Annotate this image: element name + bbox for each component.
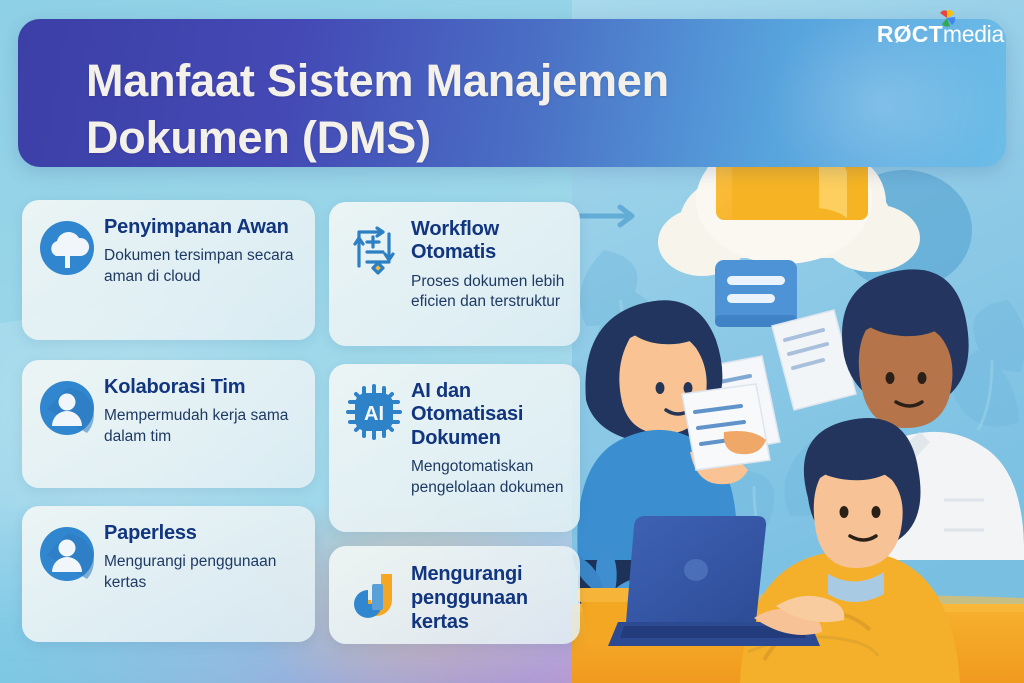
card-ai-otomatisasi-dokumen[interactable]: AI AI dan Otomatisasi Dokumen Mengotomat… [329, 364, 580, 532]
card-mengurangi-penggunaan-kertas[interactable]: Mengurangi penggunaan kertas [329, 546, 580, 644]
card-body: Mempermudah kerja sama dalam tim [104, 406, 301, 447]
page-title: Manfaat Sistem Manajemen Dokumen (DMS) [86, 53, 876, 166]
card-text: AI dan Otomatisasi Dokumen Mengotomatisk… [405, 380, 566, 518]
cloud-upload-icon [36, 216, 98, 326]
card-title: AI dan Otomatisasi Dokumen [411, 380, 566, 450]
page-title-line-2: Dokumen (DMS) [86, 110, 876, 167]
card-title: Workflow Otomatis [411, 218, 566, 265]
document-page-icon [682, 384, 770, 470]
header-banner: Manfaat Sistem Manajemen Dokumen (DMS) [18, 19, 1006, 167]
card-text: Paperless Mengurangi penggunaan kertas [98, 522, 301, 628]
card-text: Mengurangi penggunaan kertas [405, 562, 566, 630]
workflow-cycle-icon [343, 218, 405, 332]
user-circle-icon [36, 522, 98, 628]
svg-text:AI: AI [364, 403, 384, 425]
card-workflow-otomatis[interactable]: Workflow Otomatis Proses dokumen lebih e… [329, 202, 580, 346]
logo-text-rect: RØCT [877, 21, 943, 48]
card-body: Dokumen tersimpan secara aman di cloud [104, 246, 301, 287]
card-body: Mengotomatiskan pengelolaan dokumen [411, 457, 566, 498]
chat-bubble-icon [715, 260, 797, 327]
card-text: Workflow Otomatis Proses dokumen lebih e… [405, 218, 566, 332]
card-paperless[interactable]: Paperless Mengurangi penggunaan kertas [22, 506, 315, 642]
card-title: Paperless [104, 522, 301, 545]
pinwheel-icon [937, 6, 957, 24]
page-title-line-1: Manfaat Sistem Manajemen [86, 53, 876, 110]
card-body: Mengurangi penggunaan kertas [104, 552, 301, 593]
rectmedia-logo[interactable]: RØCT media [877, 21, 1004, 48]
chart-abstract-icon [343, 562, 405, 630]
user-circle-icon [36, 376, 98, 474]
card-title: Penyimpanan Awan [104, 216, 301, 239]
ai-chip-icon: AI [343, 380, 405, 518]
card-text: Penyimpanan Awan Dokumen tersimpan secar… [98, 216, 301, 326]
card-body: Proses dokumen lebih eficien dan terstru… [411, 272, 566, 313]
card-text: Kolaborasi Tim Mempermudah kerja sama da… [98, 376, 301, 474]
card-penyimpanan-awan[interactable]: Penyimpanan Awan Dokumen tersimpan secar… [22, 200, 315, 340]
card-title: Kolaborasi Tim [104, 376, 301, 399]
card-title: Mengurangi penggunaan kertas [411, 562, 566, 634]
card-kolaborasi-tim[interactable]: Kolaborasi Tim Mempermudah kerja sama da… [22, 360, 315, 488]
